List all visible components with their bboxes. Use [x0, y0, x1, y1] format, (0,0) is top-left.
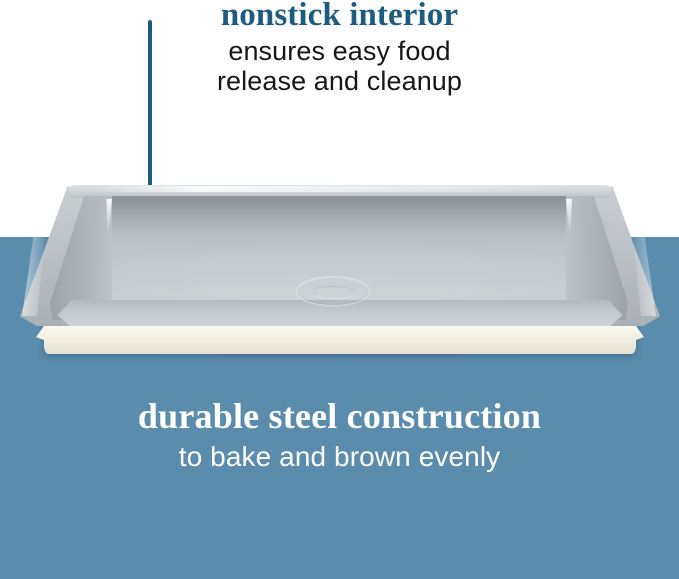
infographic-canvas: nonstick interior ensures easy food rele… — [0, 0, 679, 579]
pan-interior-back-shadow — [60, 196, 620, 230]
bottom-callout-heading: durable steel construction — [0, 396, 679, 436]
top-callout-heading: nonstick interior — [0, 0, 679, 32]
bottom-callout-block: durable steel construction to bake and b… — [0, 396, 679, 473]
bottom-callout-subtitle: to bake and brown evenly — [0, 441, 679, 473]
baking-sheet-product-image — [0, 168, 679, 368]
top-callout-subtitle-line-2: release and cleanup — [0, 66, 679, 96]
brand-logo-emboss-icon — [296, 276, 370, 306]
top-callout-subtitle-line-1: ensures easy food — [0, 36, 679, 66]
pan-rim-gloss — [96, 186, 566, 192]
top-callout-block: nonstick interior ensures easy food rele… — [0, 0, 679, 96]
top-callout-subtitle: ensures easy food release and cleanup — [0, 36, 679, 96]
